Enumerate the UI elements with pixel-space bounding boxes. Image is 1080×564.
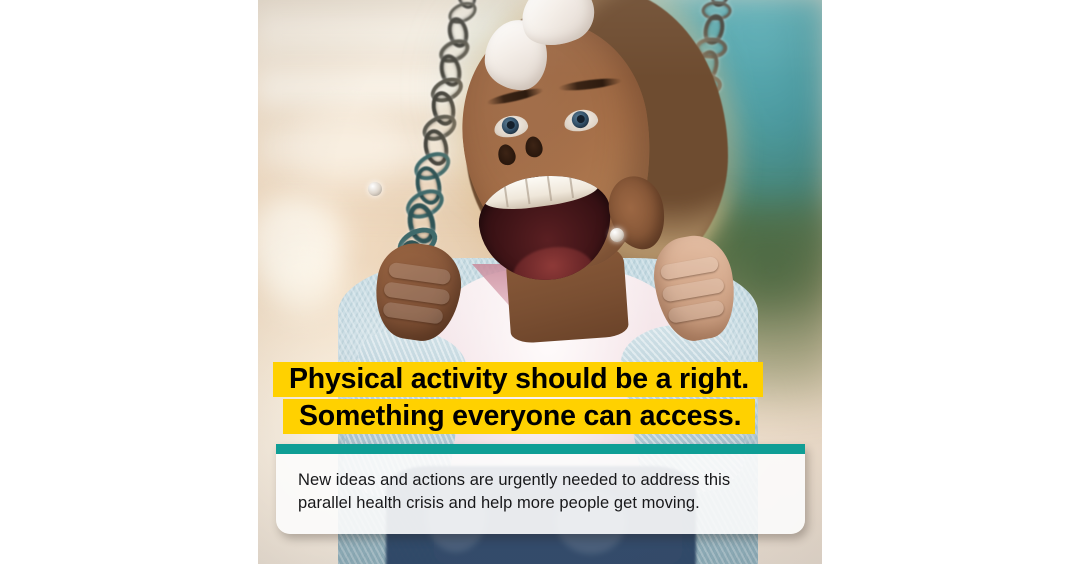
nostril xyxy=(495,142,518,167)
card-accent-bar xyxy=(276,444,805,454)
headline-line-1: Physical activity should be a right. xyxy=(273,362,763,397)
body-text-card: New ideas and actions are urgently neede… xyxy=(276,444,805,534)
earring xyxy=(610,228,624,242)
poster-canvas: Physical activity should be a right. Som… xyxy=(0,0,1080,564)
headline-line-2: Something everyone can access. xyxy=(283,399,755,434)
earring xyxy=(368,182,382,196)
nostril xyxy=(523,135,544,159)
body-text: New ideas and actions are urgently neede… xyxy=(298,469,783,516)
card-body: New ideas and actions are urgently neede… xyxy=(276,454,805,534)
